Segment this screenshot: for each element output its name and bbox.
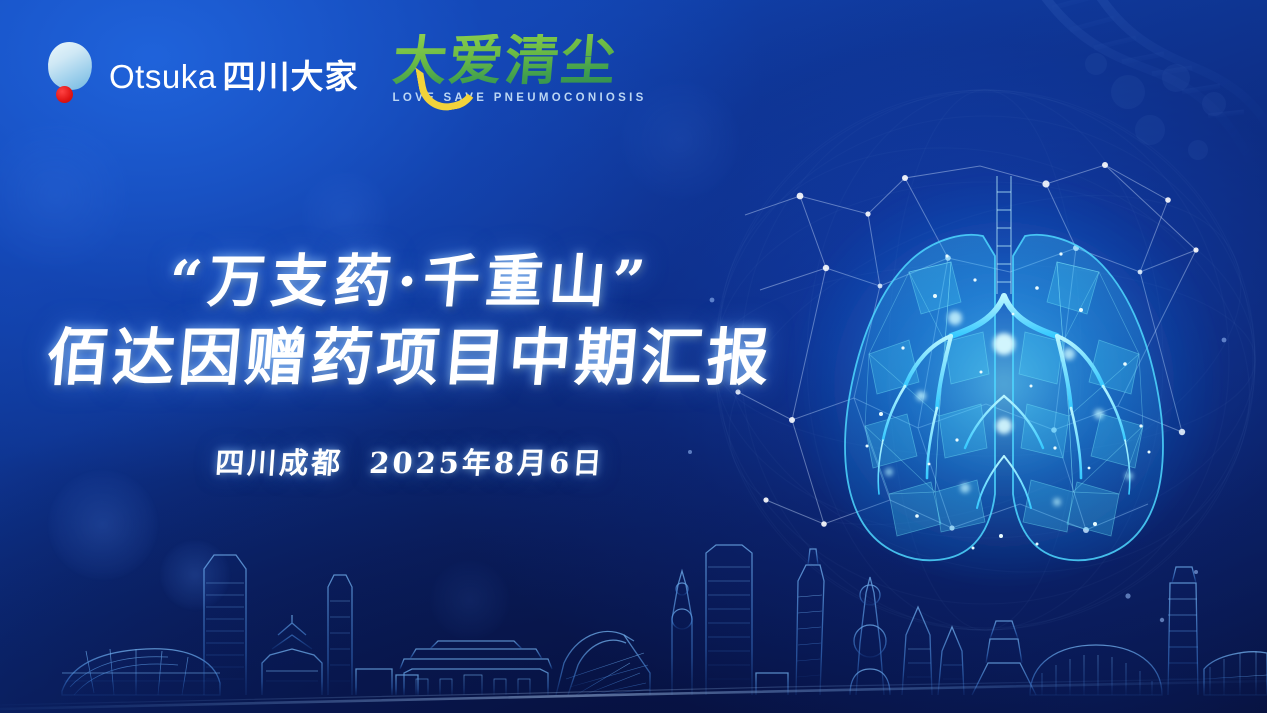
- otsuka-logo: Otsuka四川大家: [44, 32, 359, 106]
- otsuka-name-cn: 四川大家: [223, 58, 359, 95]
- title-slide: Otsuka四川大家 大爱清尘 LOVE SAVE PNEUMOCONIOSIS: [0, 0, 1267, 713]
- logo-row: Otsuka四川大家 大爱清尘 LOVE SAVE PNEUMOCONIOSIS: [44, 32, 647, 106]
- slide-date: 2025年8月6日: [368, 446, 605, 480]
- slide-title-line-1: “万支药·千重山”: [0, 248, 823, 315]
- glowing-lung-icon: [769, 96, 1239, 616]
- daaiqingchen-logo: 大爱清尘 LOVE SAVE PNEUMOCONIOSIS: [393, 32, 647, 104]
- daaiqingchen-swoosh-icon: [415, 57, 482, 115]
- slide-location: 四川成都: [214, 446, 344, 480]
- slide-title-line-2: 佰达因赠药项目中期汇报: [0, 321, 823, 395]
- otsuka-name-en: Otsuka: [109, 58, 217, 95]
- slide-subtitle: 四川成都2025年8月6日: [0, 440, 821, 482]
- otsuka-logo-text: Otsuka四川大家: [109, 50, 359, 98]
- title-block: “万支药·千重山” 佰达因赠药项目中期汇报 四川成都2025年8月6日: [0, 248, 820, 482]
- otsuka-blob-icon: [44, 42, 96, 106]
